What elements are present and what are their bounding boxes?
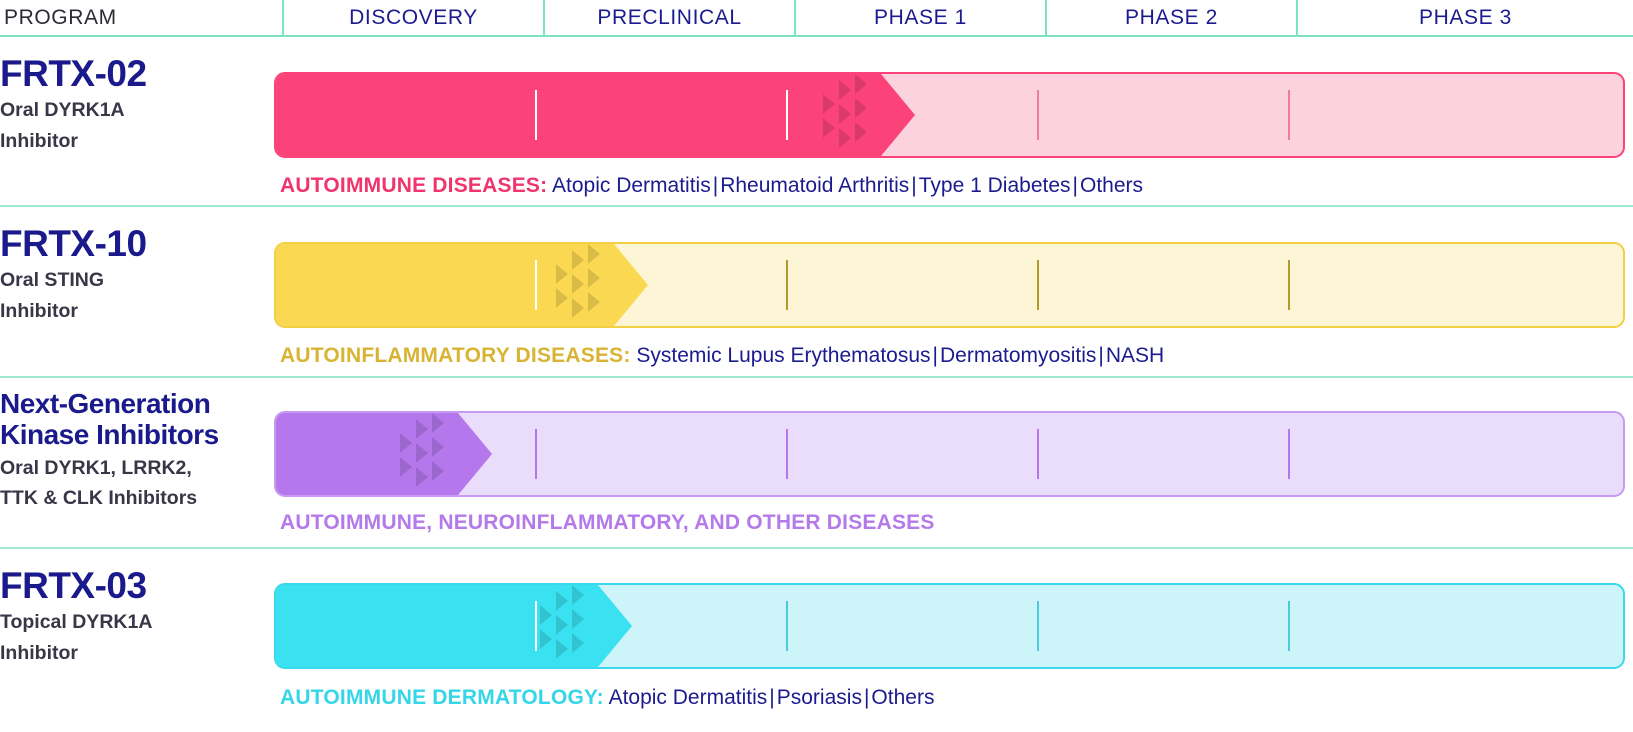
- caption-category-label: AUTOIMMUNE DISEASES:: [280, 174, 547, 197]
- program-info: FRTX-02Oral DYRK1A Inhibitor: [0, 55, 270, 156]
- program-name: FRTX-02: [0, 55, 270, 93]
- indication-caption: AUTOINFLAMMATORY DISEASES: Systemic Lupu…: [280, 344, 1164, 368]
- indication-caption: AUTOIMMUNE DERMATOLOGY: Atopic Dermatiti…: [280, 686, 934, 710]
- caption-indication: Atopic Dermatitis: [552, 174, 711, 197]
- phase-divider-tick: [1037, 260, 1039, 310]
- program-name: Next-Generation Kinase Inhibitors: [0, 388, 270, 451]
- pipeline-header-row: PROGRAM DISCOVERY PRECLINICAL PHASE 1 PH…: [0, 0, 1633, 37]
- progress-bar-fill: [276, 74, 881, 156]
- caption-separator: |: [909, 174, 918, 197]
- progress-bar-track: [274, 583, 1625, 669]
- phase-divider-tick: [786, 429, 788, 479]
- caption-separator: |: [862, 686, 871, 709]
- pipeline-chart: PROGRAM DISCOVERY PRECLINICAL PHASE 1 PH…: [0, 0, 1633, 732]
- progress-bar-container[interactable]: [274, 411, 1625, 497]
- caption-indication: NASH: [1106, 344, 1164, 367]
- progress-arrow-head: [458, 413, 492, 495]
- program-row[interactable]: FRTX-10Oral STING InhibitorAUTOINFLAMMAT…: [0, 207, 1633, 378]
- progress-bar-track: [274, 242, 1625, 328]
- program-info: FRTX-10Oral STING Inhibitor: [0, 225, 270, 326]
- caption-category-label: AUTOIMMUNE DERMATOLOGY:: [280, 686, 604, 709]
- phase-divider-tick: [1288, 601, 1290, 651]
- phase-divider-tick: [535, 429, 537, 479]
- progress-arrow-head: [614, 244, 648, 326]
- header-phase-preclinical: PRECLINICAL: [543, 0, 794, 37]
- caption-separator: |: [931, 344, 940, 367]
- indication-caption: AUTOIMMUNE, NEUROINFLAMMATORY, AND OTHER…: [280, 511, 935, 535]
- program-subtitle: Oral DYRK1, LRRK2, TTK & CLK Inhibitors: [0, 453, 270, 513]
- caption-indication: Others: [1080, 174, 1143, 197]
- program-subtitle: Topical DYRK1A Inhibitor: [0, 607, 270, 667]
- phase-divider-tick: [535, 90, 537, 140]
- header-phase-2: PHASE 2: [1045, 0, 1296, 37]
- program-subtitle: Oral STING Inhibitor: [0, 265, 270, 325]
- header-phase-1: PHASE 1: [794, 0, 1045, 37]
- caption-indication: Dermatomyositis: [940, 344, 1096, 367]
- header-program-label: PROGRAM: [0, 0, 282, 37]
- phase-divider-tick: [1037, 90, 1039, 140]
- phase-divider-tick: [786, 601, 788, 651]
- arrow-texture-pattern: [400, 413, 458, 495]
- caption-indication: Others: [871, 686, 934, 709]
- program-name: FRTX-03: [0, 567, 270, 605]
- phase-divider-tick: [1288, 429, 1290, 479]
- progress-arrow-head: [881, 74, 915, 156]
- caption-separator: |: [1071, 174, 1080, 197]
- program-row[interactable]: FRTX-03Topical DYRK1A InhibitorAUTOIMMUN…: [0, 549, 1633, 730]
- progress-bar-container[interactable]: [274, 583, 1625, 669]
- arrow-texture-pattern: [556, 244, 614, 326]
- header-phase-3: PHASE 3: [1296, 0, 1633, 37]
- progress-bar-track: [274, 411, 1625, 497]
- indication-caption: AUTOIMMUNE DISEASES: Atopic Dermatitis|R…: [280, 174, 1143, 198]
- caption-separator: |: [1096, 344, 1105, 367]
- progress-arrow-head: [598, 585, 632, 667]
- program-info: Next-Generation Kinase InhibitorsOral DY…: [0, 388, 270, 513]
- progress-bar-container[interactable]: [274, 242, 1625, 328]
- progress-bar-container[interactable]: [274, 72, 1625, 158]
- caption-indication: Rheumatoid Arthritis: [720, 174, 909, 197]
- phase-divider-tick: [1037, 429, 1039, 479]
- caption-separator: |: [711, 174, 720, 197]
- arrow-texture-pattern: [823, 74, 881, 156]
- caption-separator: |: [767, 686, 776, 709]
- pipeline-rows: FRTX-02Oral DYRK1A InhibitorAUTOIMMUNE D…: [0, 37, 1633, 730]
- header-phase-discovery: DISCOVERY: [282, 0, 543, 37]
- caption-category-label: AUTOINFLAMMATORY DISEASES:: [280, 344, 631, 367]
- phase-divider-tick: [535, 260, 537, 310]
- caption-indication: Atopic Dermatitis: [609, 686, 768, 709]
- program-row[interactable]: Next-Generation Kinase InhibitorsOral DY…: [0, 378, 1633, 549]
- phase-divider-tick: [786, 260, 788, 310]
- caption-indication: Type 1 Diabetes: [919, 174, 1071, 197]
- phase-divider-tick: [1037, 601, 1039, 651]
- arrow-texture-pattern: [540, 585, 598, 667]
- caption-category-label: AUTOIMMUNE, NEUROINFLAMMATORY, AND OTHER…: [280, 511, 935, 534]
- phase-divider-tick: [535, 601, 537, 651]
- phase-divider-tick: [786, 90, 788, 140]
- program-info: FRTX-03Topical DYRK1A Inhibitor: [0, 567, 270, 668]
- program-name: FRTX-10: [0, 225, 270, 263]
- caption-indication: Systemic Lupus Erythematosus: [636, 344, 930, 367]
- caption-indication: Psoriasis: [777, 686, 862, 709]
- program-row[interactable]: FRTX-02Oral DYRK1A InhibitorAUTOIMMUNE D…: [0, 37, 1633, 207]
- progress-bar-track: [274, 72, 1625, 158]
- phase-divider-tick: [1288, 90, 1290, 140]
- phase-divider-tick: [1288, 260, 1290, 310]
- program-subtitle: Oral DYRK1A Inhibitor: [0, 95, 270, 155]
